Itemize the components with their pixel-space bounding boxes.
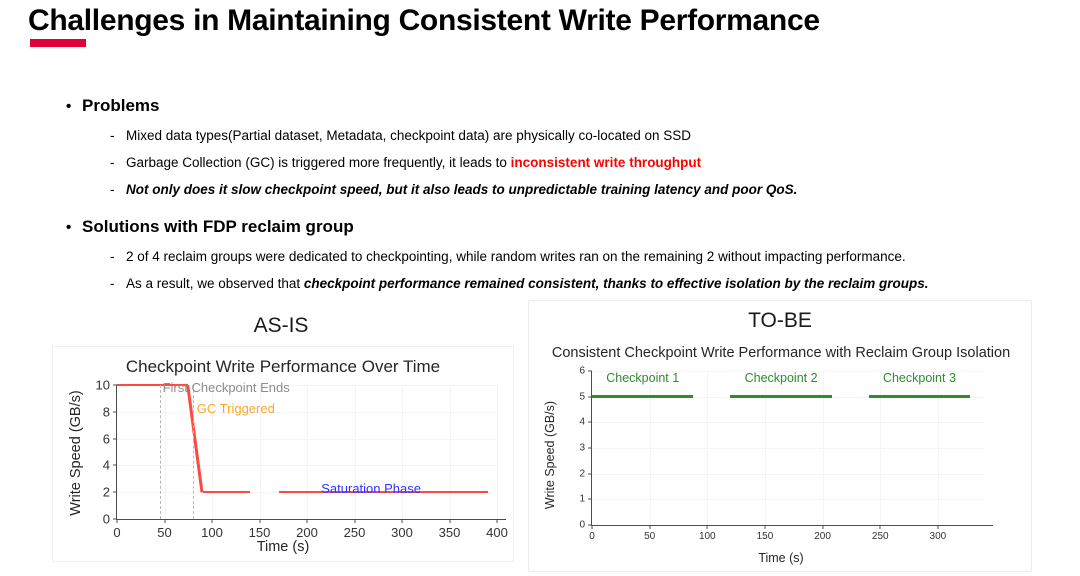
x-axis-tick-label: 150 [249,525,271,540]
gridline-vertical [450,385,451,519]
gridline-horizontal [117,439,497,440]
x-axis-title-to-be: Time (s) [532,551,1030,565]
chart-annotation: First Checkpoint Ends [163,380,290,395]
x-axis-tick-mark [164,519,165,523]
x-axis-tick-label: 0 [113,525,120,540]
x-axis-tick-label: 50 [157,525,171,540]
y-axis-title-to-be: Write Speed (GB/s) [543,375,557,535]
x-axis-tick-label: 250 [344,525,366,540]
x-axis-tick-label: 150 [757,531,774,542]
x-axis-tick-mark [449,519,450,523]
gridline-vertical [355,385,356,519]
bullet-heading-problems: • Problems [66,96,1080,116]
panel-heading-to-be: TO-BE [529,309,1031,333]
x-axis-tick-mark [880,525,881,529]
bullet-heading-label: Problems [82,96,159,116]
gridline-horizontal [117,412,497,413]
gridline-horizontal [592,474,984,475]
x-axis-tick-label: 0 [589,531,595,542]
y-axis-tick-mark [588,448,592,449]
sub-bullet-text: Garbage Collection (GC) is triggered mor… [126,155,511,170]
x-axis-tick-label: 50 [644,531,655,542]
chart-annotation: GC Triggered [197,401,275,416]
x-axis-tick-mark [307,519,308,523]
gridline-vertical [497,385,498,519]
x-axis-line [591,525,993,526]
chart-annotation: Checkpoint 1 [606,371,679,385]
x-axis-tick-label: 300 [391,525,413,540]
x-axis-title-as-is: Time (s) [53,539,513,555]
x-axis-tick-label: 400 [486,525,508,540]
y-axis-tick-mark [113,411,117,412]
chart-annotation: Checkpoint 2 [745,371,818,385]
y-axis-tick-label: 6 [103,431,110,446]
y-axis-tick-label: 0 [103,512,110,527]
chart-panel-to-be: TO-BE Consistent Checkpoint Write Perfor… [528,300,1032,572]
sub-bullet-text: Mixed data types(Partial dataset, Metada… [126,128,691,143]
sub-bullet-item: - Mixed data types(Partial dataset, Meta… [110,128,1080,145]
bullet-dot-icon: • [66,220,82,235]
gridline-horizontal [592,448,984,449]
title-accent-underline [30,39,86,47]
y-axis-tick-label: 5 [579,391,585,402]
figure-to-be: Consistent Checkpoint Write Performance … [532,343,1030,569]
sub-bullet-text: As a result, we observed that [126,276,304,291]
y-axis-tick-mark [113,492,117,493]
bullet-heading-solutions: • Solutions with FDP reclaim group [66,217,1080,237]
x-axis-tick-label: 200 [296,525,318,540]
sub-bullet-text: 2 of 4 reclaim groups were dedicated to … [126,249,906,266]
sub-bullet-item: - Garbage Collection (GC) is triggered m… [110,155,1080,172]
x-axis-tick-mark [354,519,355,523]
x-axis-line [116,519,506,520]
dash-glyph-icon: - [110,249,126,266]
gridline-horizontal [592,499,984,500]
chart-annotation: Saturation Phase [321,481,421,496]
bullet-heading-label: Solutions with FDP reclaim group [82,217,354,237]
dash-glyph-icon: - [110,276,126,293]
x-axis-tick-label: 250 [872,531,889,542]
y-axis-tick-mark [113,465,117,466]
y-axis-line [116,385,117,519]
page-title: Challenges in Maintaining Consistent Wri… [28,4,820,38]
bullet-dot-icon: • [66,99,82,114]
plot-area-as-is: 0501001502002503003504000246810 First Ch… [117,385,497,519]
y-axis-tick-label: 10 [96,378,110,393]
dash-glyph-icon: - [110,128,126,145]
marker-vertical-line [160,385,161,519]
y-axis-tick-mark [588,473,592,474]
plot-area-to-be: 0501001502002503000123456 Checkpoint 1Ch… [592,371,984,525]
x-axis-tick-mark [764,525,765,529]
x-axis-tick-mark [402,519,403,523]
x-axis-tick-label: 100 [201,525,223,540]
x-axis-tick-mark [822,525,823,529]
x-axis-tick-mark [649,525,650,529]
sub-bullet-emphasis-red: inconsistent write throughput [511,155,702,170]
y-axis-tick-mark [113,519,117,520]
y-axis-tick-label: 4 [579,417,585,428]
x-axis-tick-label: 200 [814,531,831,542]
x-axis-tick-mark [212,519,213,523]
y-axis-tick-mark [588,525,592,526]
x-axis-tick-mark [497,519,498,523]
series-line-segment [730,395,831,398]
sub-bullet-item: - 2 of 4 reclaim groups were dedicated t… [110,249,1080,266]
x-axis-tick-mark [937,525,938,529]
gridline-horizontal [117,465,497,466]
y-axis-tick-label: 2 [103,485,110,500]
y-axis-tick-mark [113,438,117,439]
dash-glyph-icon: - [110,182,126,199]
y-axis-title-as-is: Write Speed (GB/s) [68,378,84,528]
sub-bullet-emphasis-italic: checkpoint performance remained consiste… [304,276,929,291]
y-axis-tick-label: 2 [579,468,585,479]
chart-title-to-be: Consistent Checkpoint Write Performance … [532,345,1030,361]
x-axis-tick-mark [259,519,260,523]
y-axis-tick-label: 3 [579,443,585,454]
sub-bullet-item: - As a result, we observed that checkpoi… [110,276,1080,293]
x-axis-tick-label: 350 [439,525,461,540]
y-axis-tick-label: 8 [103,404,110,419]
y-axis-tick-label: 1 [579,494,585,505]
slide-body: • Problems - Mixed data types(Partial da… [0,96,1080,292]
x-axis-tick-label: 100 [699,531,716,542]
dash-glyph-icon: - [110,155,126,172]
gridline-vertical [165,385,166,519]
sub-bullet-item: - Not only does it slow checkpoint speed… [110,182,1080,199]
chart-annotation: Checkpoint 3 [883,371,956,385]
x-axis-tick-mark [707,525,708,529]
x-axis-tick-mark [117,519,118,523]
y-axis-tick-label: 0 [579,520,585,531]
marker-vertical-line [193,385,194,519]
y-axis-tick-label: 4 [103,458,110,473]
y-axis-tick-mark [588,499,592,500]
gridline-vertical [307,385,308,519]
y-axis-tick-label: 6 [579,366,585,377]
series-line-segment [203,491,251,494]
gridline-vertical [402,385,403,519]
series-line-segment [869,395,970,398]
x-axis-tick-label: 300 [930,531,947,542]
figure-as-is: Checkpoint Write Performance Over Time W… [52,346,514,562]
x-axis-tick-mark [592,525,593,529]
gridline-horizontal [592,422,984,423]
sub-bullet-text-emphasis: Not only does it slow checkpoint speed, … [126,182,797,199]
y-axis-tick-mark [588,371,592,372]
series-line-segment [592,395,693,398]
panel-heading-as-is: AS-IS [46,314,516,338]
chart-panel-as-is: AS-IS Checkpoint Write Performance Over … [46,310,516,560]
chart-title-as-is: Checkpoint Write Performance Over Time [53,357,513,377]
y-axis-tick-mark [588,422,592,423]
